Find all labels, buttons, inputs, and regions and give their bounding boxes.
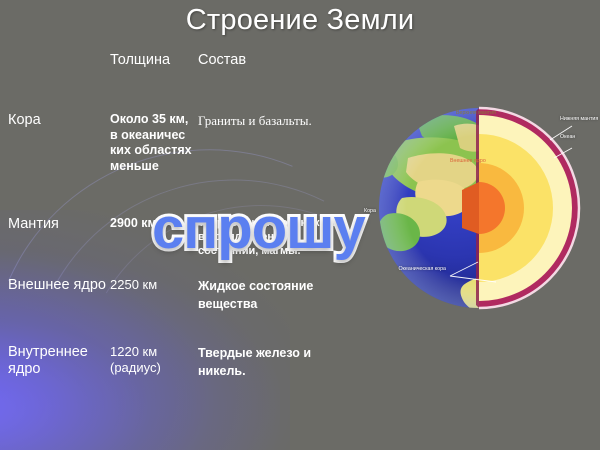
row-label-crust: Кора — [8, 112, 108, 129]
row-composition-inner-core: Твердые железо и никель. — [198, 344, 348, 380]
diagram-label-ocean: Океан — [560, 134, 600, 140]
slide-canvas: Строение Земли Толщина Состав Кора Около… — [0, 0, 600, 450]
row-composition-outer-core: Жидкое состояние вещества — [198, 277, 348, 313]
row-composition-crust: Граниты и базальты. — [198, 112, 348, 130]
diagram-label-crust: Кора — [364, 208, 416, 214]
diagram-label-outer-core: Внешнее ядро — [450, 158, 498, 164]
row-label-inner-core: Внутреннее ядро — [8, 344, 108, 378]
row-thickness-mantle: 2900 км — [110, 216, 192, 232]
row-thickness-inner-core: 1220 км (радиус) — [110, 344, 192, 375]
row-thickness-crust: Около 35 км, в океаничес ких областях ме… — [110, 112, 192, 174]
column-header-thickness: Толщина — [110, 52, 170, 68]
diagram-label-oceanic-crust: Океаническая кора — [380, 266, 446, 272]
row-label-outer-core: Внешнее ядро — [8, 277, 108, 294]
column-header-composition: Состав — [198, 52, 246, 68]
row-composition-mantle: Твердые железо и никель в подплавленном … — [198, 216, 348, 258]
diagram-label-upper-mantle: Верхняя мантия — [456, 110, 508, 116]
diagram-label-lower-mantle: Нижняя мантия — [560, 116, 600, 122]
slide-title: Строение Земли — [0, 4, 600, 37]
row-label-mantle: Мантия — [8, 216, 108, 233]
earth-cutaway-diagram: Нижняя мантия Океан Верхняя мантия Внешн… — [358, 86, 600, 336]
row-thickness-outer-core: 2250 км — [110, 277, 192, 293]
